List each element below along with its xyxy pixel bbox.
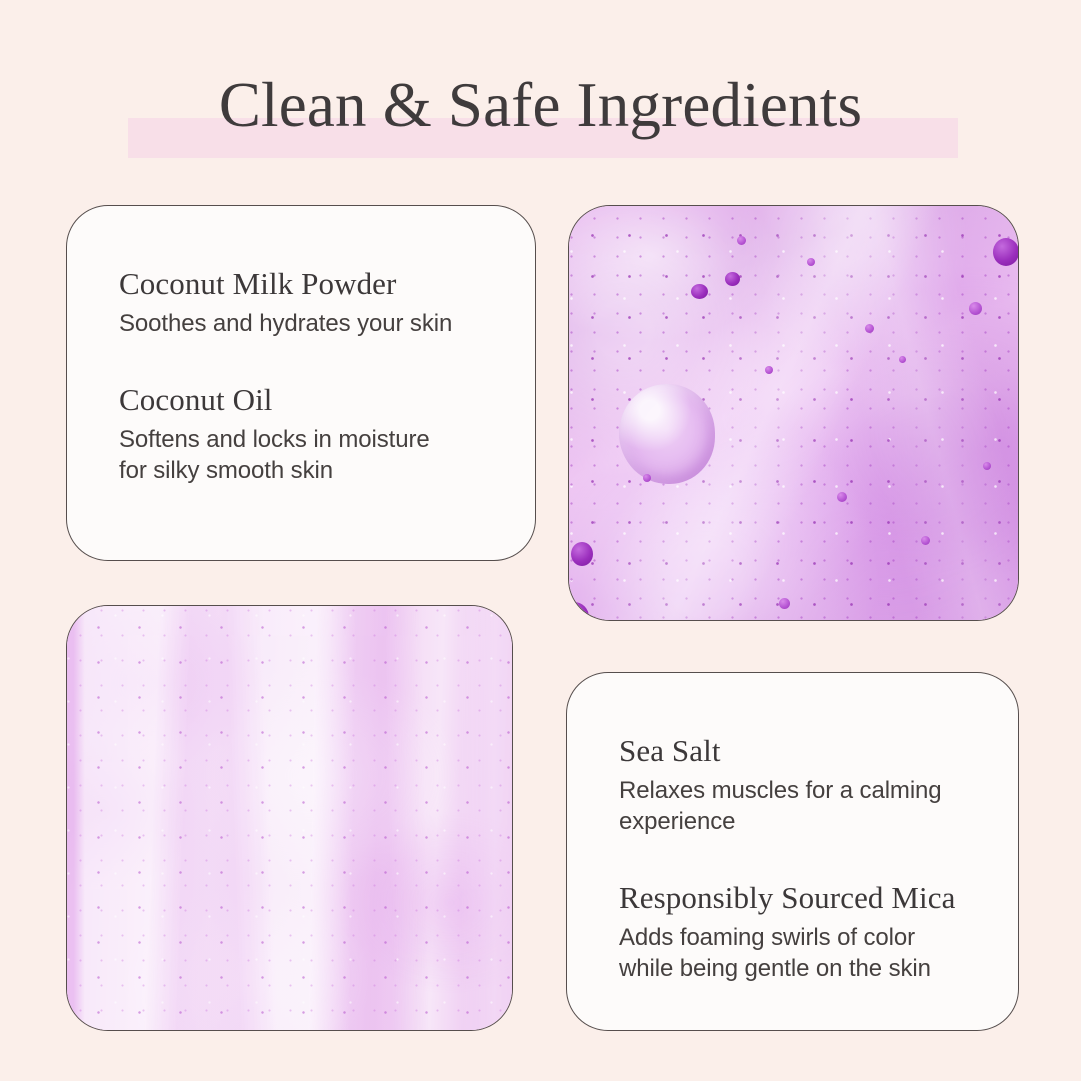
foam-droplets-layer — [569, 206, 1018, 620]
foam-droplet — [779, 598, 790, 609]
foam-droplet — [969, 302, 982, 315]
title-section: Clean & Safe Ingredients — [0, 62, 1081, 162]
foam-droplet — [691, 284, 708, 299]
foam-droplet — [725, 272, 740, 286]
poster-canvas: Clean & Safe Ingredients Coconut Milk Po… — [0, 0, 1081, 1081]
ingredient-card-coconut: Coconut Milk Powder Soothes and hydrates… — [66, 205, 536, 561]
swirl-speckle-layer — [67, 606, 512, 1030]
photo-bath-foam-purple — [568, 205, 1019, 621]
ingredient-coconut-oil: Coconut Oil Softens and locks in moistur… — [119, 380, 491, 486]
foam-droplet — [568, 602, 589, 621]
foam-droplet — [837, 492, 847, 502]
ingredient-sea-salt: Sea Salt Relaxes muscles for a calmingex… — [619, 731, 974, 837]
card-content: Sea Salt Relaxes muscles for a calmingex… — [567, 673, 1018, 1030]
ingredient-name: Responsibly Sourced Mica — [619, 878, 974, 918]
foam-droplet — [983, 462, 991, 470]
foam-droplet — [993, 238, 1019, 266]
ingredient-description: Relaxes muscles for a calmingexperience — [619, 775, 974, 837]
foam-droplet — [571, 542, 593, 566]
foam-droplet — [765, 366, 773, 374]
ingredient-card-minerals: Sea Salt Relaxes muscles for a calmingex… — [566, 672, 1019, 1031]
photo-bath-foam-lilac — [66, 605, 513, 1031]
foam-droplet — [807, 258, 815, 266]
ingredient-name: Sea Salt — [619, 731, 974, 771]
ingredient-coconut-milk-powder: Coconut Milk Powder Soothes and hydrates… — [119, 264, 491, 339]
foam-droplet — [899, 356, 906, 363]
page-title: Clean & Safe Ingredients — [0, 62, 1081, 148]
foam-droplet — [865, 324, 874, 333]
foam-droplet — [921, 536, 930, 545]
ingredient-name: Coconut Milk Powder — [119, 264, 491, 304]
foam-droplet — [643, 474, 651, 482]
ingredient-description: Softens and locks in moisturefor silky s… — [119, 424, 491, 486]
ingredient-description: Soothes and hydrates your skin — [119, 308, 491, 339]
ingredient-description: Adds foaming swirls of colorwhile being … — [619, 922, 974, 984]
card-content: Coconut Milk Powder Soothes and hydrates… — [67, 206, 535, 560]
ingredient-name: Coconut Oil — [119, 380, 491, 420]
foam-droplet — [737, 236, 746, 245]
ingredient-responsibly-sourced-mica: Responsibly Sourced Mica Adds foaming sw… — [619, 878, 974, 984]
